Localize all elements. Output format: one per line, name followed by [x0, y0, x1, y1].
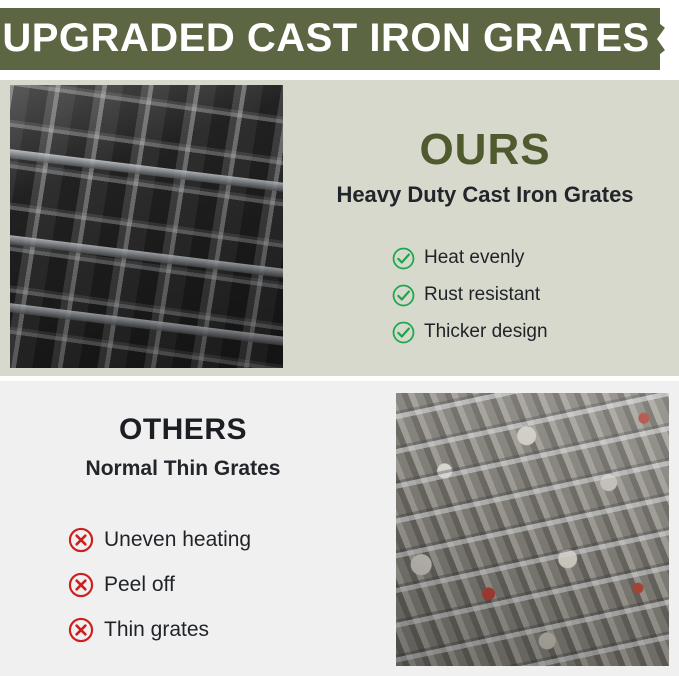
list-item-label: Thicker design	[424, 321, 548, 343]
ours-feature-list: Heat evenly Rust resistant	[392, 240, 672, 351]
check-circle-icon	[392, 284, 415, 307]
list-item: Uneven heating	[68, 519, 388, 561]
x-circle-icon	[68, 572, 94, 598]
list-item-label: Rust resistant	[424, 284, 540, 306]
list-item: Peel off	[68, 564, 388, 606]
banner-notch-shape	[657, 8, 679, 70]
header-banner: UPGRADED CAST IRON GRATES	[0, 8, 679, 72]
others-drawback-list: Uneven heating Peel off	[68, 519, 388, 654]
grate-sheen-overlay	[10, 85, 283, 368]
list-item: Thin grates	[68, 609, 388, 651]
list-item-label: Thin grates	[104, 618, 209, 642]
x-circle-icon	[68, 617, 94, 643]
check-circle-icon	[392, 247, 415, 270]
others-title: OTHERS	[0, 413, 366, 447]
charcoal-shading-overlay	[396, 393, 669, 666]
banner-title: UPGRADED CAST IRON GRATES	[0, 8, 652, 70]
list-item-label: Uneven heating	[104, 528, 251, 552]
list-item-label: Heat evenly	[424, 247, 524, 269]
comparison-infographic: UPGRADED CAST IRON GRATES OURS Heavy Dut…	[0, 0, 679, 676]
ours-title: OURS	[300, 125, 670, 175]
list-item: Rust resistant	[392, 277, 672, 313]
ours-subtitle: Heavy Duty Cast Iron Grates	[300, 182, 670, 208]
ours-text-block: OURS Heavy Duty Cast Iron Grates Heat ev…	[300, 80, 679, 376]
others-subtitle: Normal Thin Grates	[0, 457, 366, 481]
others-product-photo	[396, 393, 669, 666]
x-circle-icon	[68, 527, 94, 553]
list-item: Thicker design	[392, 314, 672, 350]
others-text-block: OTHERS Normal Thin Grates Uneven heating	[0, 381, 390, 676]
ours-product-photo	[10, 85, 283, 368]
list-item-label: Peel off	[104, 573, 175, 597]
check-circle-icon	[392, 321, 415, 344]
list-item: Heat evenly	[392, 240, 672, 276]
others-panel: OTHERS Normal Thin Grates Uneven heating	[0, 381, 679, 676]
ours-panel: OURS Heavy Duty Cast Iron Grates Heat ev…	[0, 80, 679, 376]
